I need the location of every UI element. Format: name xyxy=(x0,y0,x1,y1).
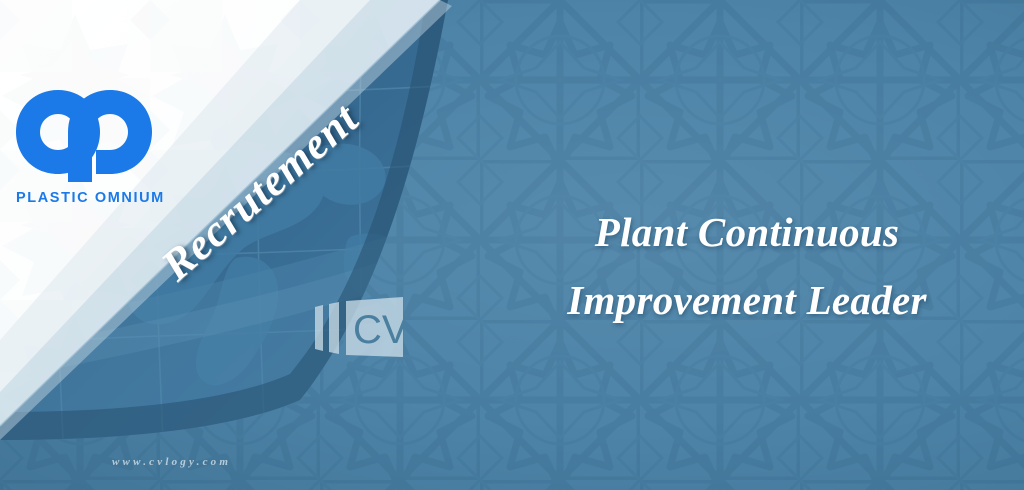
plastic-omnium-op-monogram-icon xyxy=(14,84,160,184)
headline-line-1: Plant Continuous xyxy=(470,198,1024,266)
headline-line-2: Improvement Leader xyxy=(470,266,1024,334)
website-url: www.cvlogy.com xyxy=(112,456,231,468)
recruitment-banner: PLASTIC OMNIUM Recrutement CV Plant Cont… xyxy=(0,0,1024,490)
brand-name: PLASTIC OMNIUM xyxy=(16,190,174,206)
plastic-omnium-logo: PLASTIC OMNIUM xyxy=(14,84,174,206)
cv-logo-icon: CV xyxy=(313,293,405,361)
headline: Plant Continuous Improvement Leader xyxy=(470,198,1024,334)
cv-logo-text: CV xyxy=(353,308,405,352)
